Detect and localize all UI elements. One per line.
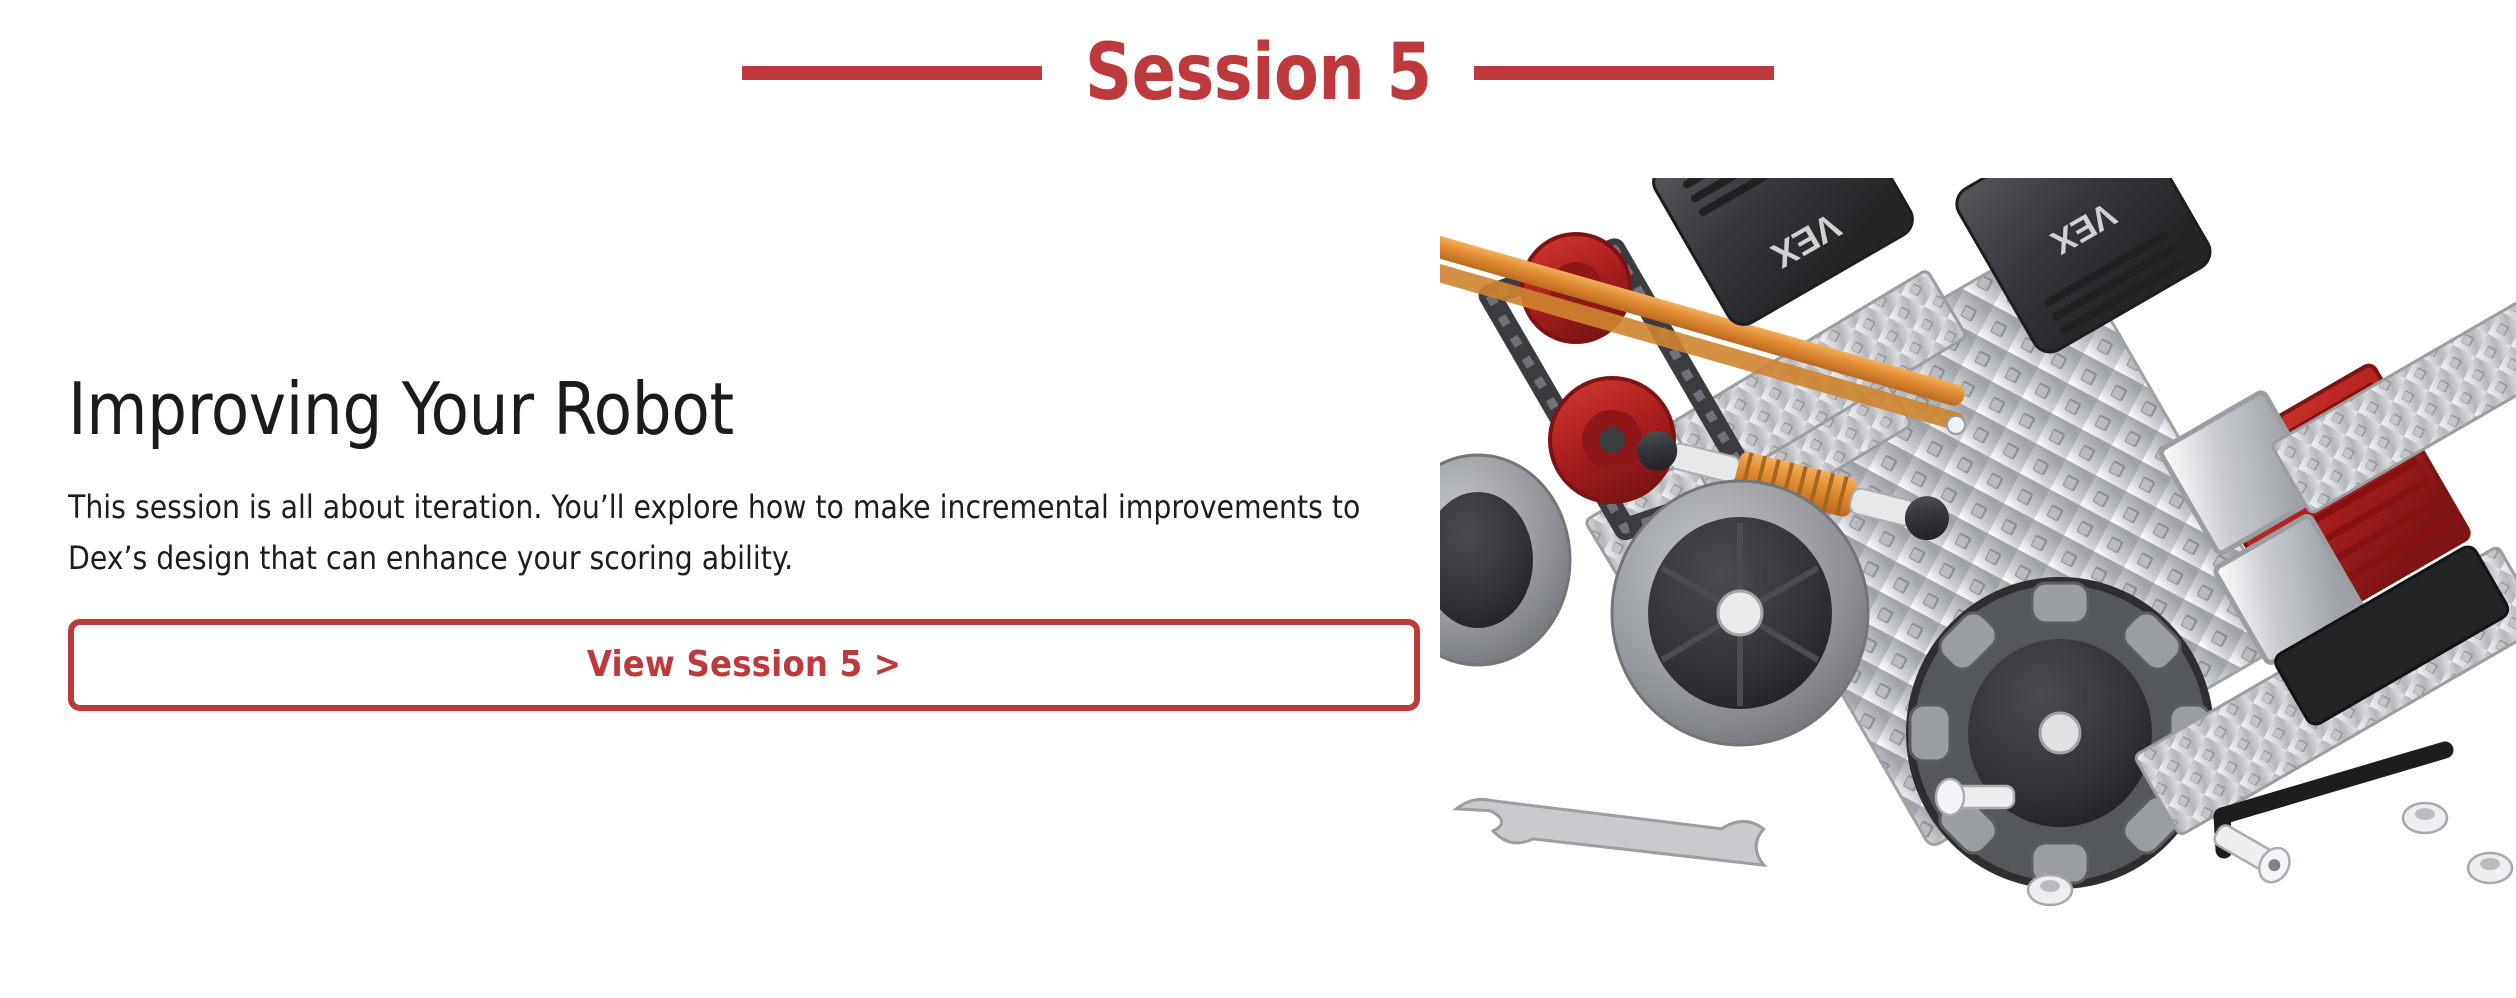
omni-wheel: [1440, 455, 1570, 665]
nut-icon: [2028, 875, 2072, 905]
content-column: Improving Your Robot This session is all…: [68, 372, 1448, 711]
nut-icon: [2403, 803, 2447, 833]
session-description: This session is all about iteration. You…: [68, 482, 1398, 586]
divider-left-icon: [742, 66, 1042, 80]
omni-wheel: [1612, 481, 1868, 745]
session-header: Session 5: [0, 18, 2516, 128]
session-title: Session 5: [1085, 34, 1432, 112]
omni-wheel: [1910, 581, 2210, 885]
robot-photo: VEX VEX: [1440, 178, 2516, 978]
divider-right-icon: [1474, 66, 1774, 80]
wrench-icon: [1454, 798, 1766, 865]
nut-icon: [2468, 853, 2512, 883]
session-promo-page: Session 5 Improving Your Robot This sess…: [0, 0, 2516, 998]
view-session-button[interactable]: View Session 5 >: [68, 619, 1420, 711]
page-title: Improving Your Robot: [68, 372, 1407, 448]
robot-illustration: VEX VEX: [1440, 178, 2516, 978]
